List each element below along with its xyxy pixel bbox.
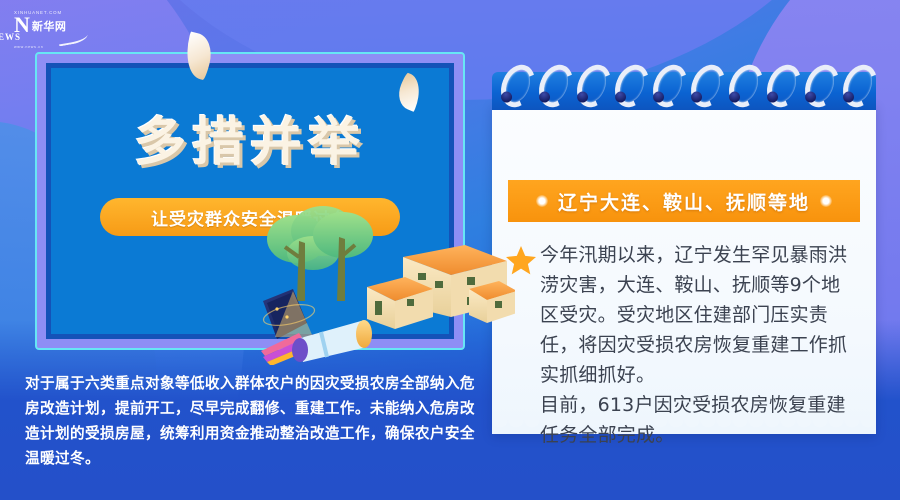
glow-dot-icon <box>820 195 832 207</box>
logo-chinese-name: 新华网 <box>32 21 67 33</box>
spiral-ring-icon <box>685 60 731 113</box>
spiral-ring-icon <box>495 60 541 113</box>
page-title: 多措并举 <box>51 100 449 175</box>
logo-top-line: XINHUANET.COM <box>14 10 90 15</box>
house-icon <box>469 281 515 323</box>
notebook-paragraph: 今年汛期以来，辽宁发生罕见暴雨洪涝灾害，大连、鞍山、抚顺等9个地区受灾。受灾地区… <box>540 240 852 390</box>
spiral-ring-icon <box>647 60 693 113</box>
notebook-card: 辽宁大连、鞍山、抚顺等地 今年汛期以来，辽宁发生罕见暴雨洪涝灾害，大连、鞍山、抚… <box>484 60 884 450</box>
house-icon <box>367 277 433 329</box>
spiral-ring-icon <box>761 60 807 113</box>
logo-letter-n: N <box>14 16 30 33</box>
village-illustration <box>255 205 515 365</box>
region-banner-title: 辽宁大连、鞍山、抚顺等地 <box>558 188 810 215</box>
glow-dot-icon <box>536 195 548 207</box>
spiral-ring-icon <box>609 60 655 113</box>
infographic-canvas: XINHUANET.COM N 新华网 EWS www.news.cn 多措并举… <box>0 0 900 500</box>
xinhua-logo: XINHUANET.COM N 新华网 EWS www.news.cn <box>14 10 90 54</box>
summary-paragraph: 对于属于六类重点对象等低收入群体农户的因灾受损农房全部纳入危房改造计划，提前开工… <box>25 372 485 472</box>
notebook-body: 今年汛期以来，辽宁发生罕见暴雨洪涝灾害，大连、鞍山、抚顺等9个地区受灾。受灾地区… <box>540 240 852 450</box>
spiral-ring-icon <box>571 60 617 113</box>
spiral-ring-icon <box>837 60 883 113</box>
spiral-ring-icon <box>723 60 769 113</box>
phone-icon <box>262 289 317 339</box>
region-banner: 辽宁大连、鞍山、抚顺等地 <box>508 180 860 222</box>
notebook-spiral-band <box>492 72 876 110</box>
notebook-paragraph: 目前，613户因灾受损农房恢复重建任务全部完成。 <box>540 390 852 450</box>
spiral-ring-icon <box>533 60 579 113</box>
spiral-ring-icon <box>799 60 845 113</box>
logo-url: www.news.cn <box>14 45 90 49</box>
